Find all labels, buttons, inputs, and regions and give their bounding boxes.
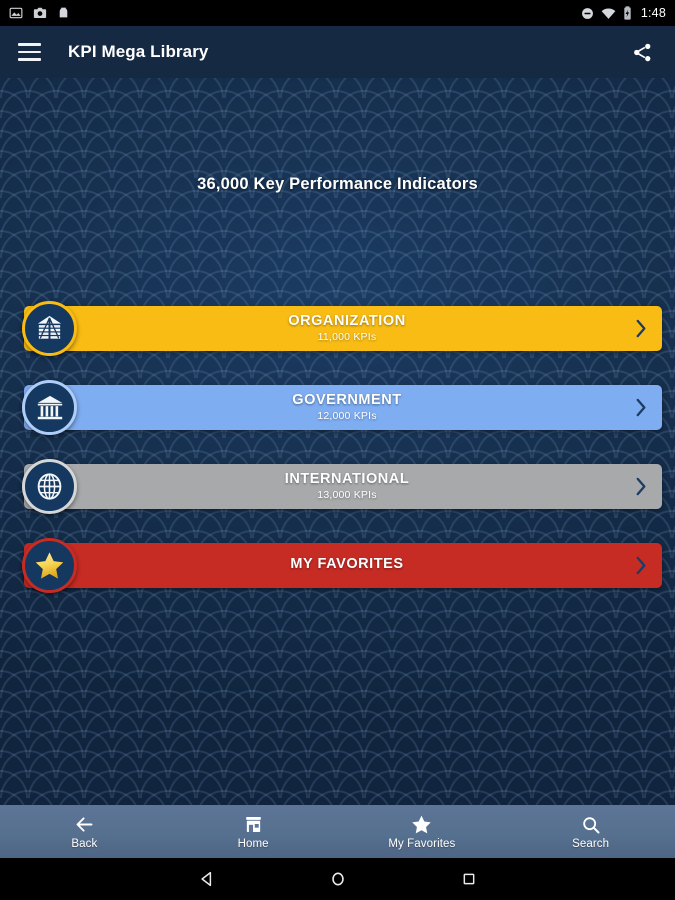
category-title: INTERNATIONAL: [62, 472, 632, 488]
chevron-right-icon: [632, 397, 650, 419]
app-bar: KPI Mega Library: [0, 26, 675, 78]
page-title: KPI Mega Library: [68, 42, 208, 62]
nav-item-home[interactable]: Home: [169, 806, 338, 858]
category-icon-badge-international: [22, 459, 77, 514]
search-icon: [581, 815, 601, 835]
star-icon: [34, 550, 65, 581]
app-screen: 1:48 KPI Mega Library 36,000 Key Perform…: [0, 0, 675, 900]
nav-label-home: Home: [238, 838, 269, 850]
category-subtitle: 11,000 KPIs: [62, 332, 632, 343]
category-label-group-government: GOVERNMENT 12,000 KPIs: [24, 393, 662, 422]
nav-item-search[interactable]: Search: [506, 806, 675, 858]
nav-label-my-favorites: My Favorites: [388, 838, 455, 850]
nav-label-back: Back: [71, 838, 97, 850]
category-subtitle: 13,000 KPIs: [62, 490, 632, 501]
chevron-right-icon: [632, 476, 650, 498]
category-label-group-international: INTERNATIONAL 13,000 KPIs: [24, 472, 662, 501]
hamburger-menu-icon[interactable]: [18, 38, 46, 66]
status-bar-notification-icons: [9, 6, 70, 20]
category-label-group-my-favorites: MY FAVORITES: [24, 557, 662, 575]
office-building-icon: [34, 313, 65, 344]
battery-charging-icon: [623, 6, 632, 20]
back-triangle-icon[interactable]: [190, 862, 224, 896]
status-bar-clock: 1:48: [641, 6, 666, 20]
category-title: ORGANIZATION: [62, 314, 632, 330]
arrow-left-icon: [74, 815, 95, 835]
nav-item-my-favorites[interactable]: My Favorites: [338, 806, 507, 858]
category-bar-my-favorites[interactable]: MY FAVORITES: [24, 543, 662, 588]
chevron-right-icon: [632, 555, 650, 577]
category-title: GOVERNMENT: [62, 393, 632, 409]
category-label-group-organization: ORGANIZATION 11,000 KPIs: [24, 314, 662, 343]
image-icon: [9, 6, 23, 20]
recents-square-icon[interactable]: [452, 862, 486, 896]
category-bar-organization[interactable]: ORGANIZATION 11,000 KPIs: [24, 306, 662, 351]
category-bar-government[interactable]: GOVERNMENT 12,000 KPIs: [24, 385, 662, 430]
status-bar-system-icons: 1:48: [581, 6, 666, 20]
category-icon-badge-my-favorites: [22, 538, 77, 593]
category-icon-badge-organization: [22, 301, 77, 356]
app-icon: [57, 6, 70, 20]
category-icon-badge-government: [22, 380, 77, 435]
android-status-bar: 1:48: [0, 0, 675, 26]
category-bar-international[interactable]: INTERNATIONAL 13,000 KPIs: [24, 464, 662, 509]
main-content: 36,000 Key Performance Indicators ORGANI…: [0, 78, 675, 805]
category-row-my-favorites[interactable]: MY FAVORITES: [24, 543, 662, 588]
category-subtitle: 12,000 KPIs: [62, 411, 632, 422]
globe-icon: [35, 472, 64, 501]
share-icon[interactable]: [627, 37, 657, 67]
nav-label-search: Search: [572, 838, 609, 850]
dnd-icon: [581, 7, 594, 20]
wifi-icon: [601, 7, 616, 20]
bottom-navigation-bar: Back Home My Favorites: [0, 805, 675, 858]
category-title: MY FAVORITES: [62, 557, 632, 573]
category-row-organization[interactable]: ORGANIZATION 11,000 KPIs: [24, 306, 662, 351]
home-store-icon: [244, 815, 263, 835]
category-row-international[interactable]: INTERNATIONAL 13,000 KPIs: [24, 464, 662, 509]
classical-building-icon: [35, 393, 65, 423]
android-navigation-bar: [0, 858, 675, 900]
star-icon: [411, 815, 432, 835]
home-circle-icon[interactable]: [321, 862, 355, 896]
category-row-government[interactable]: GOVERNMENT 12,000 KPIs: [24, 385, 662, 430]
headline-text: 36,000 Key Performance Indicators: [0, 175, 675, 194]
nav-item-back[interactable]: Back: [0, 806, 169, 858]
chevron-right-icon: [632, 318, 650, 340]
camera-icon: [33, 6, 47, 20]
